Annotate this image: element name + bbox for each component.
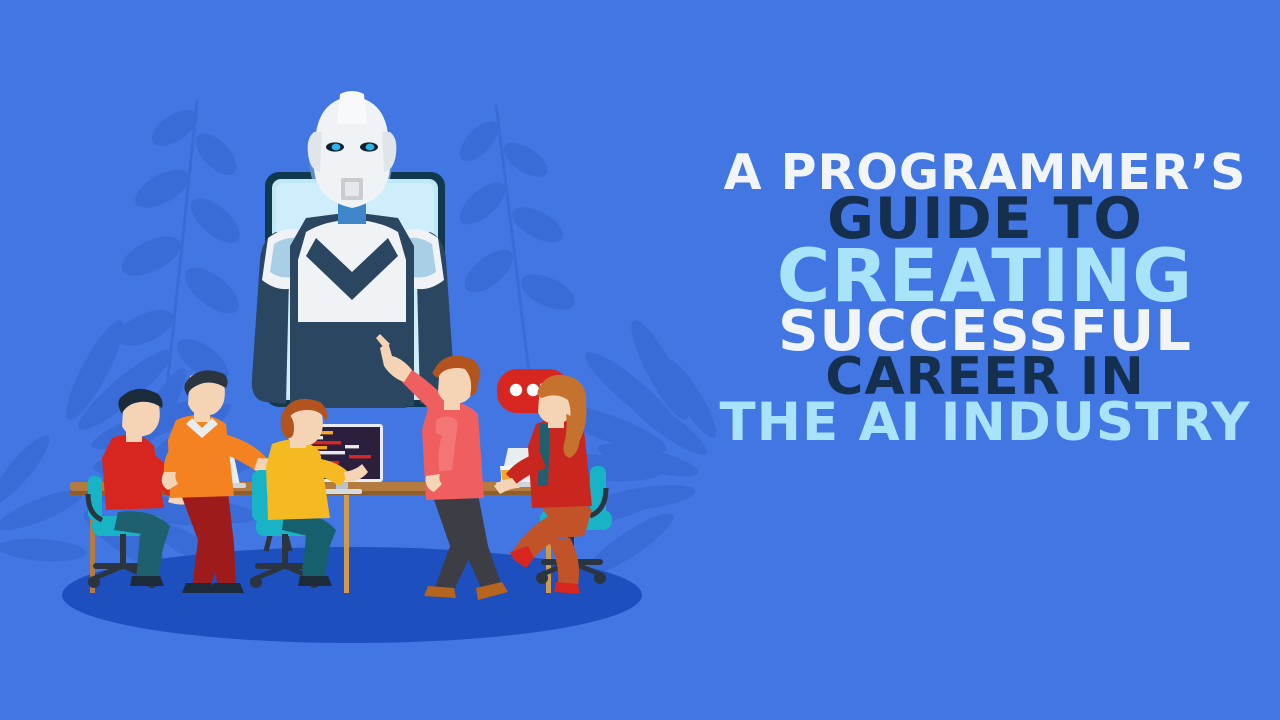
banner-canvas: A PROGRAMMER’S GUIDE TO CREATING SUCCESS… — [0, 0, 1280, 720]
ai-team-illustration — [0, 0, 700, 720]
banner-title: A PROGRAMMER’S GUIDE TO CREATING SUCCESS… — [700, 150, 1270, 448]
title-line-1: A PROGRAMMER’S — [724, 150, 1247, 195]
title-line-6: THE AI INDUSTRY — [719, 399, 1250, 448]
ai-robot — [252, 91, 454, 408]
